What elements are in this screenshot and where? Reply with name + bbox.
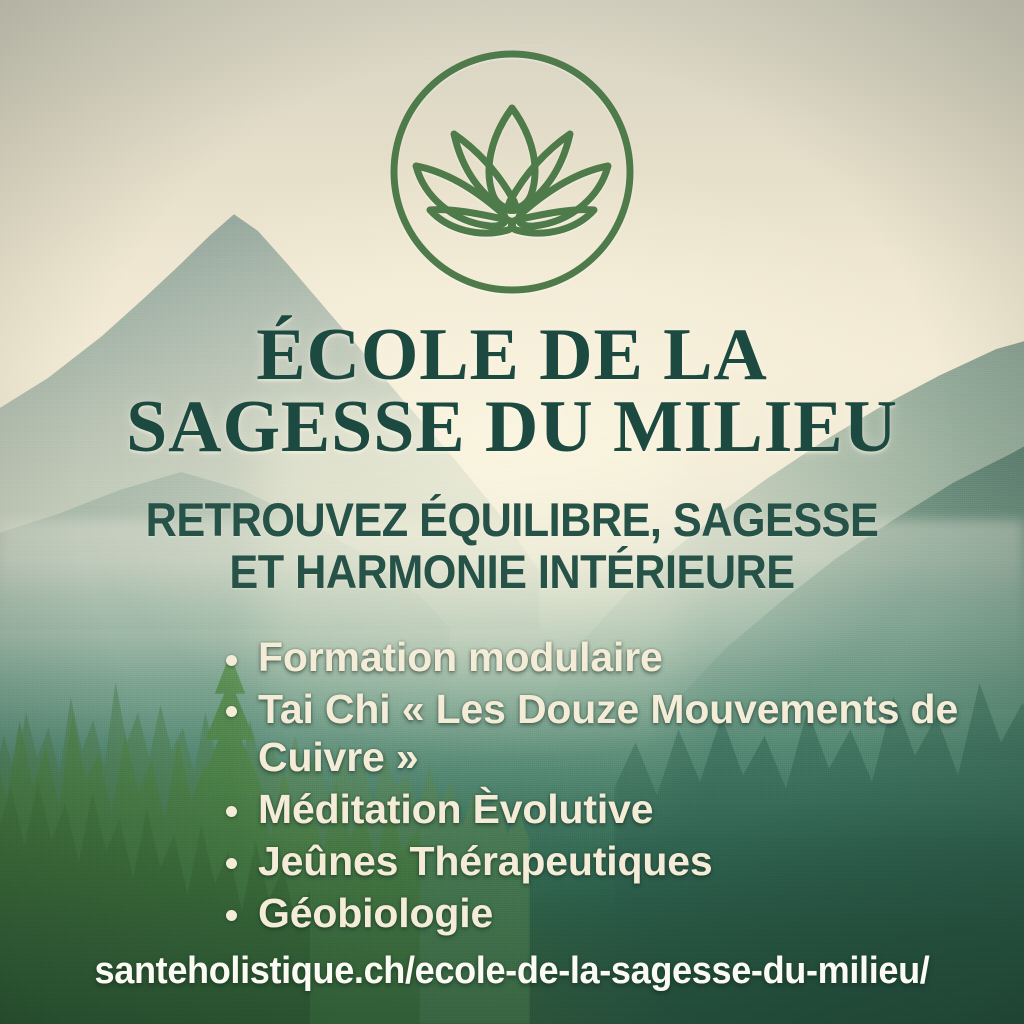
list-item-label: Tai Chi « Les Douze Mouvements de Cuivre… xyxy=(258,686,958,780)
list-item-label: Formation modulaire xyxy=(258,634,663,680)
page-title: ÉCOLE DE LA SAGESSE DU MILIEU xyxy=(0,320,1024,464)
list-item-label: Méditation Èvolutive xyxy=(258,786,653,832)
offerings-list: Formation modulaire Tai Chi « Les Douze … xyxy=(222,634,964,942)
brand-logo xyxy=(390,50,634,294)
list-item: Formation modulaire xyxy=(222,634,964,682)
subtitle-line-1: RETROUVEZ ÉQUILIBRE, SAGESSE xyxy=(146,493,879,546)
list-item: Tai Chi « Les Douze Mouvements de Cuivre… xyxy=(222,686,964,782)
subtitle-line-2: ET HARMONIE INTÉRIEURE xyxy=(41,546,983,598)
title-line-1: ÉCOLE DE LA xyxy=(256,314,767,396)
poster-content: ÉCOLE DE LA SAGESSE DU MILIEU RETROUVEZ … xyxy=(0,0,1024,1024)
list-item: Jeûnes Thérapeutiques xyxy=(222,838,964,886)
list-item-label: Géobiologie xyxy=(258,890,493,936)
bullet-dot-icon xyxy=(226,910,237,921)
lotus-in-circle-icon xyxy=(390,50,634,294)
list-item: Méditation Èvolutive xyxy=(222,786,964,834)
list-item: Géobiologie xyxy=(222,890,964,938)
website-url[interactable]: santeholistique.ch/ecole-de-la-sagesse-d… xyxy=(26,950,999,993)
bullet-dot-icon xyxy=(226,655,237,666)
poster: ÉCOLE DE LA SAGESSE DU MILIEU RETROUVEZ … xyxy=(0,0,1024,1024)
list-item-label: Jeûnes Thérapeutiques xyxy=(258,838,713,884)
bullet-dot-icon xyxy=(226,706,237,717)
bullet-dot-icon xyxy=(226,858,237,869)
page-subtitle: RETROUVEZ ÉQUILIBRE, SAGESSE ET HARMONIE… xyxy=(41,494,983,597)
bullet-dot-icon xyxy=(226,806,237,817)
title-line-2: SAGESSE DU MILIEU xyxy=(0,392,1024,464)
